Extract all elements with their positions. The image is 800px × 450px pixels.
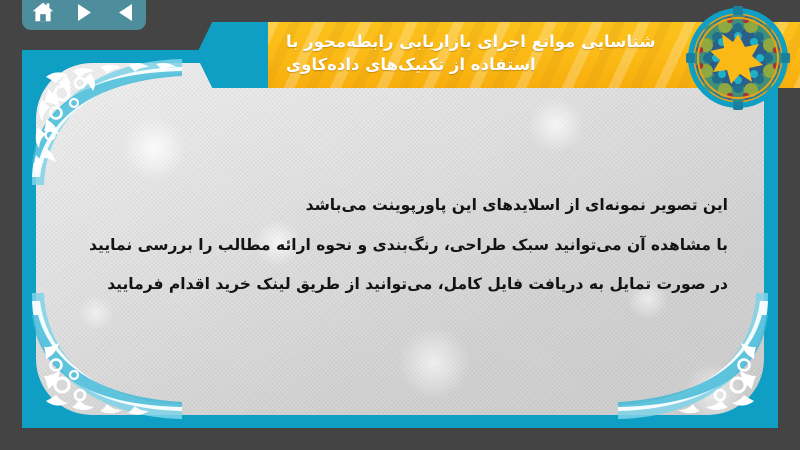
triangle-left-icon: [117, 3, 134, 22]
triangle-right-icon: [76, 3, 93, 22]
slide-frame: این تصویر نمونه‌ای از اسلایدهای این پاور…: [22, 50, 778, 428]
prev-slide-button[interactable]: [108, 0, 142, 25]
home-icon: [32, 2, 54, 22]
body-line: در صورت تمایل به دریافت فایل کامل، می‌تو…: [22, 265, 728, 305]
slide-title-banner: شناسایی موانع اجرای بازاریابی رابطه‌محور…: [268, 22, 800, 88]
page-title: شناسایی موانع اجرای بازاریابی رابطه‌محور…: [286, 31, 656, 54]
slide-viewer: این تصویر نمونه‌ای از اسلایدهای این پاور…: [0, 0, 800, 450]
corner-arc-decoration: [36, 63, 157, 174]
body-line: با مشاهده آن می‌توانید سبک طراحی، رنگ‌بن…: [22, 226, 728, 266]
body-line: این تصویر نمونه‌ای از اسلایدهای این پاور…: [22, 186, 728, 226]
slide-body-text: این تصویر نمونه‌ای از اسلایدهای این پاور…: [22, 186, 738, 305]
navigation-bar: [22, 0, 146, 30]
page-subtitle: استفاده از تکنیک‌های داده‌کاوی: [286, 54, 536, 77]
next-slide-button[interactable]: [67, 0, 101, 25]
home-button[interactable]: [26, 0, 60, 25]
